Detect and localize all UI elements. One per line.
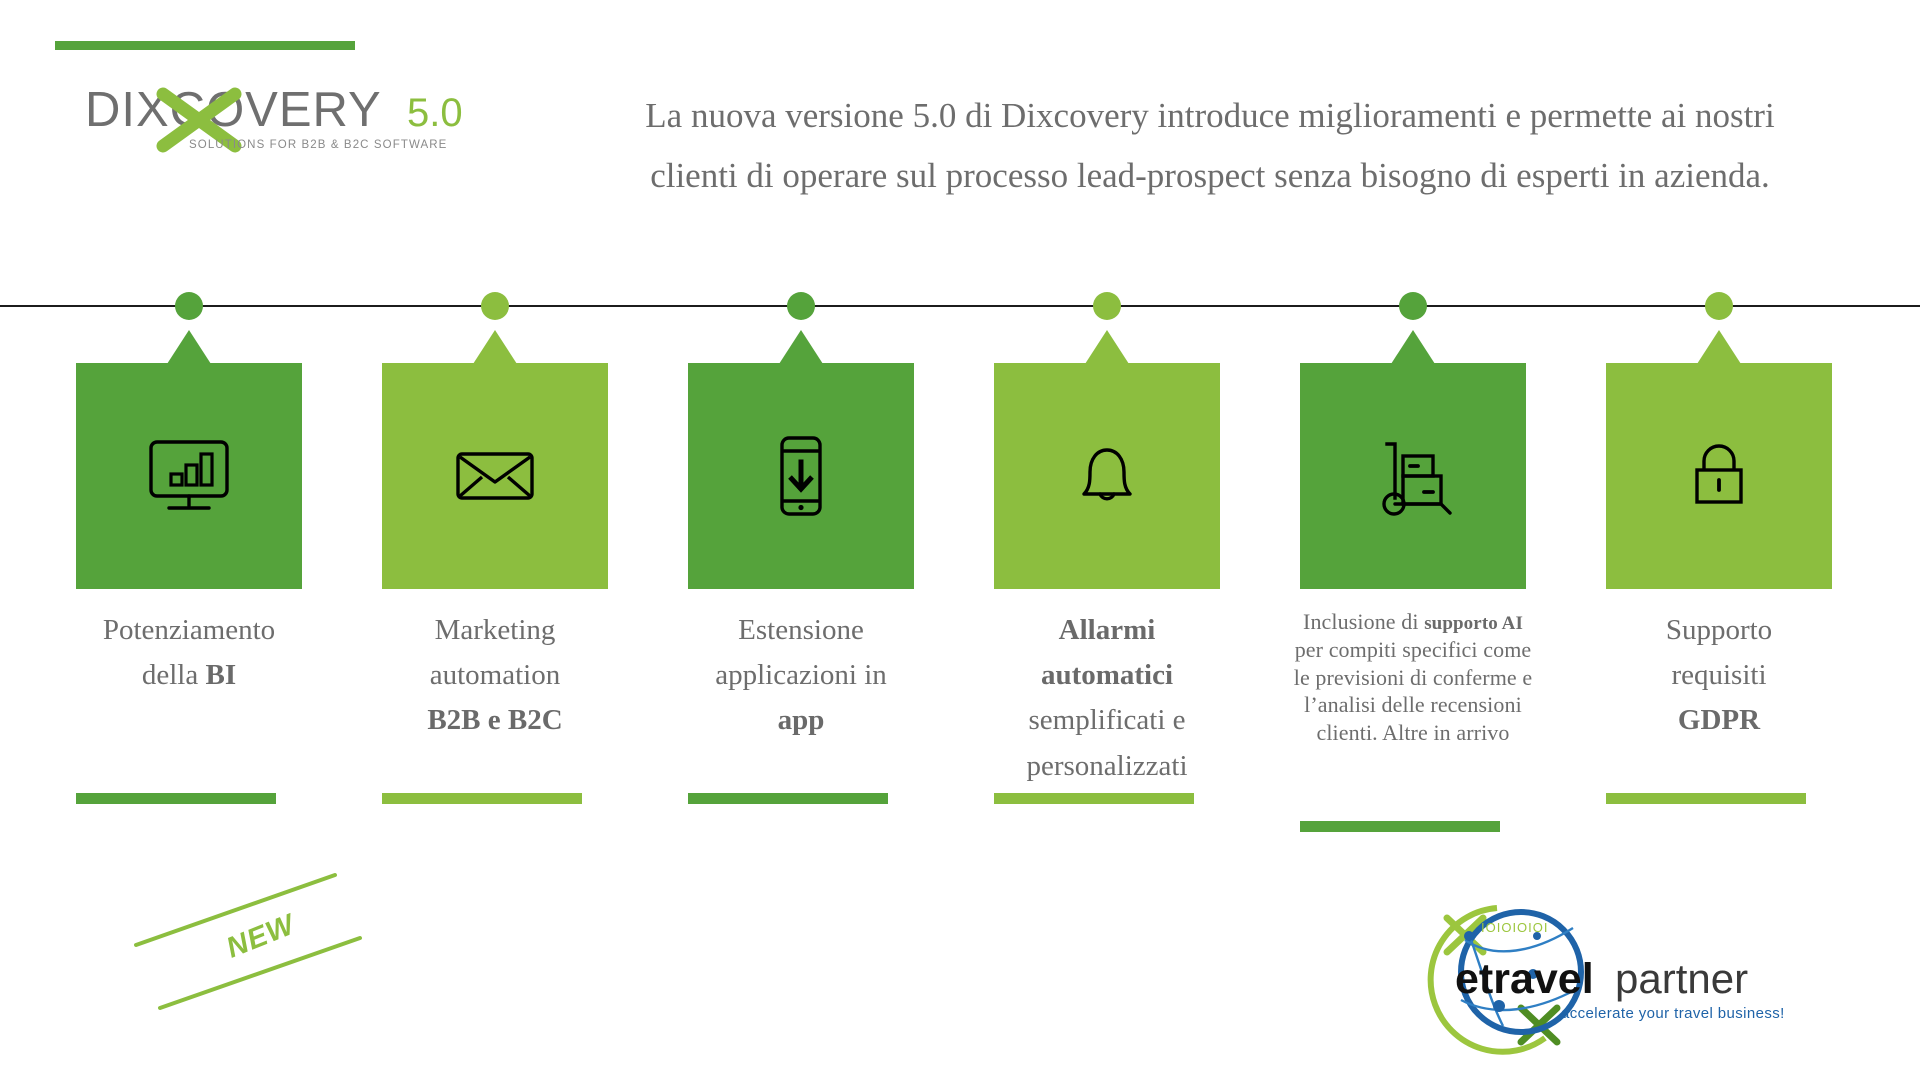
hand-truck-icon	[1369, 432, 1457, 520]
card-caption-1-line2-bold: BI	[205, 659, 236, 691]
card-caption-3-line1: Estensione	[680, 608, 922, 653]
logo-binary-text: IOIOIOIOI	[1481, 920, 1549, 935]
timeline-dot-6	[1705, 292, 1733, 320]
timeline-axis	[0, 305, 1920, 307]
card-caption-3-line3-bold: app	[778, 704, 825, 736]
card-pointer-3	[779, 330, 823, 364]
intro-line-1: La nuova versione 5.0 di Dixcovery intro…	[530, 86, 1890, 146]
card-tile-2	[382, 363, 608, 589]
card-pointer-4	[1085, 330, 1129, 364]
card-caption-2: Marketing automation B2B e B2C	[374, 608, 616, 744]
card-pointer-1	[167, 330, 211, 364]
logo-tagline: SOLUTIONS FOR B2B & B2C SOFTWARE	[189, 139, 447, 151]
card-pointer-6	[1697, 330, 1741, 364]
mobile-download-icon	[757, 432, 845, 520]
intro-paragraph: La nuova versione 5.0 di Dixcovery intro…	[530, 86, 1890, 206]
card-caption-5-bold: supporto AI	[1424, 613, 1523, 634]
timeline-dot-2	[481, 292, 509, 320]
card-caption-1-line2: della BI	[68, 653, 310, 698]
logo-node-1	[1464, 931, 1474, 941]
timeline-dot-4	[1093, 292, 1121, 320]
etravel-partner-logo: IOIOIOIOI etravel partner accelerate you…	[1425, 890, 1815, 1065]
card-underbar-1	[76, 793, 276, 804]
card-caption-1: Potenziamento della BI	[68, 608, 310, 698]
card-caption-6-line3-bold: GDPR	[1678, 704, 1760, 736]
intro-line-2: clienti di operare sul processo lead-pro…	[530, 146, 1890, 206]
envelope-icon	[451, 432, 539, 520]
card-caption-4-line2: automatici	[986, 653, 1228, 698]
card-caption-6-line3: GDPR	[1598, 698, 1840, 743]
card-caption-6: Supporto requisiti GDPR	[1598, 608, 1840, 744]
card-caption-5-post: per compiti specifici come le previsioni…	[1294, 637, 1533, 745]
dixcovery-logo: DIXCOVERY 5.0 SOLUTIONS FOR B2B & B2C SO…	[85, 82, 505, 162]
card-caption-1-line1: Potenziamento	[68, 608, 310, 653]
card-caption-2-line3-bold: B2B e B2C	[427, 704, 562, 736]
card-caption-4-line1-bold: Allarmi	[1059, 614, 1156, 646]
card-underbar-4	[994, 793, 1194, 804]
card-underbar-2	[382, 793, 582, 804]
card-underbar-6	[1606, 793, 1806, 804]
timeline-dot-3	[787, 292, 815, 320]
card-tile-4	[994, 363, 1220, 589]
card-caption-5-pre: Inclusione di	[1303, 609, 1424, 634]
card-caption-6-line2: requisiti	[1598, 653, 1840, 698]
card-caption-5: Inclusione di supporto AI per compiti sp…	[1292, 608, 1534, 747]
card-caption-2-line3: B2B e B2C	[374, 698, 616, 743]
card-underbar-5	[1300, 821, 1500, 832]
header-accent-bar	[55, 41, 355, 50]
logo-version: 5.0	[407, 91, 463, 135]
card-caption-4: Allarmi automatici semplificati e person…	[986, 608, 1228, 789]
bell-icon	[1063, 432, 1151, 520]
card-caption-3-line2: applicazioni in	[680, 653, 922, 698]
card-caption-3: Estensione applicazioni in app	[680, 608, 922, 744]
card-caption-4-line3: semplificati e	[986, 698, 1228, 743]
card-tile-6	[1606, 363, 1832, 589]
card-caption-6-line1: Supporto	[1598, 608, 1840, 653]
logo-name-light: partner	[1615, 955, 1748, 1002]
card-caption-4-line4: personalizzati	[986, 744, 1228, 789]
card-caption-2-line2: automation	[374, 653, 616, 698]
monitor-chart-icon	[145, 432, 233, 520]
card-pointer-2	[473, 330, 517, 364]
card-tile-5	[1300, 363, 1526, 589]
padlock-icon	[1675, 432, 1763, 520]
card-pointer-5	[1391, 330, 1435, 364]
card-tile-3	[688, 363, 914, 589]
card-caption-4-line1: Allarmi	[986, 608, 1228, 653]
logo-tagline-text: accelerate your travel business!	[1561, 1005, 1785, 1022]
timeline-dot-1	[175, 292, 203, 320]
card-caption-3-line3: app	[680, 698, 922, 743]
card-tile-1	[76, 363, 302, 589]
logo-name-bold: etravel	[1455, 955, 1594, 1003]
card-underbar-3	[688, 793, 888, 804]
card-caption-4-line2-bold: automatici	[1041, 659, 1173, 691]
card-caption-1-line2-text: della	[142, 659, 206, 691]
timeline-dot-5	[1399, 292, 1427, 320]
card-caption-2-line1: Marketing	[374, 608, 616, 653]
